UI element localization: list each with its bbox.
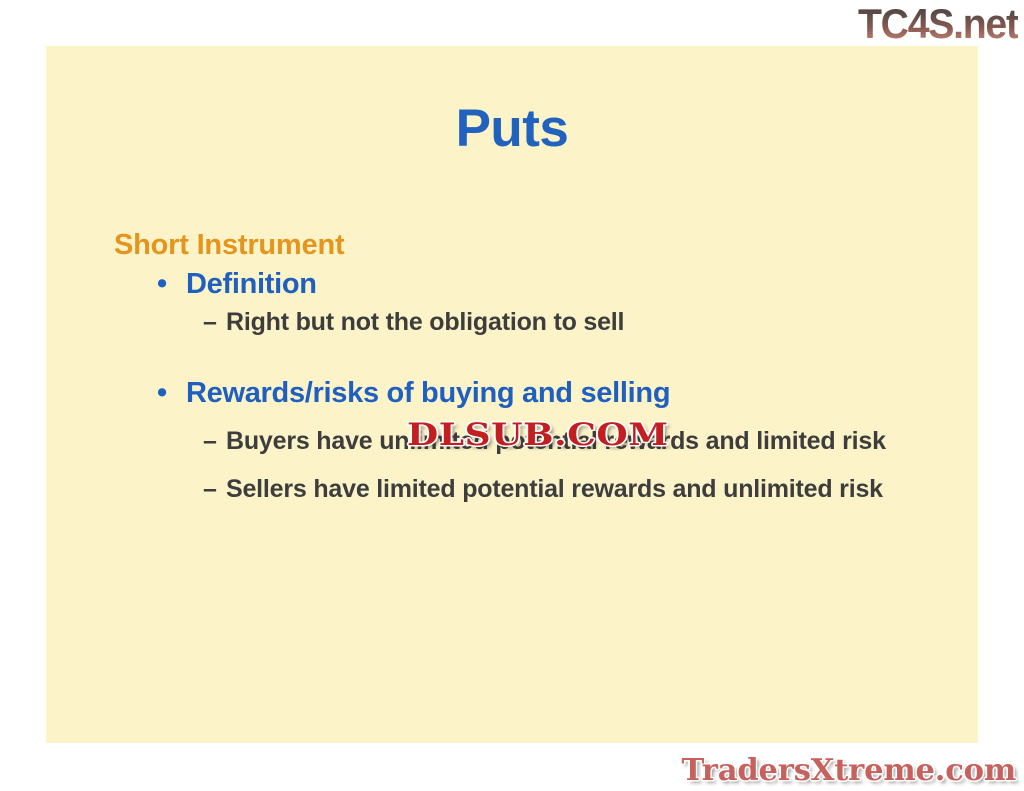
- page-title: Puts: [46, 102, 978, 155]
- bullet-item-label: Rewards/risks of buying and selling: [186, 377, 670, 409]
- dlsub-watermark: DLSUB.COM: [407, 417, 669, 453]
- bullet-item-label: Definition: [186, 268, 317, 300]
- section-heading: Short Instrument: [114, 229, 954, 261]
- tradersxtreme-logo: TradersXtreme.com: [681, 753, 1016, 788]
- dash-icon: –: [203, 425, 217, 458]
- slide-canvas: Puts Short Instrument • Definition – Rig…: [46, 46, 978, 743]
- layout-spacer: [114, 462, 954, 473]
- bullet-item-definition: • Definition: [114, 268, 954, 302]
- dash-icon: –: [203, 473, 217, 506]
- slide-body: Short Instrument • Definition – Right bu…: [114, 229, 954, 509]
- tc4s-logo: TC4S.net: [858, 1, 1018, 48]
- layout-spacer: [114, 343, 954, 377]
- bullet-dot-icon: •: [157, 377, 167, 411]
- bullet-dot-icon: •: [157, 268, 167, 302]
- sub-bullet-label: Right but not the obligation to sell: [226, 308, 624, 336]
- bullet-item-rewards-risks: • Rewards/risks of buying and selling: [114, 377, 954, 411]
- sub-bullet-label: Sellers have limited potential rewards a…: [226, 475, 883, 503]
- dash-icon: –: [203, 306, 217, 339]
- sub-bullet-item: – Right but not the obligation to sell: [114, 306, 954, 339]
- sub-bullet-item: – Sellers have limited potential rewards…: [114, 473, 954, 506]
